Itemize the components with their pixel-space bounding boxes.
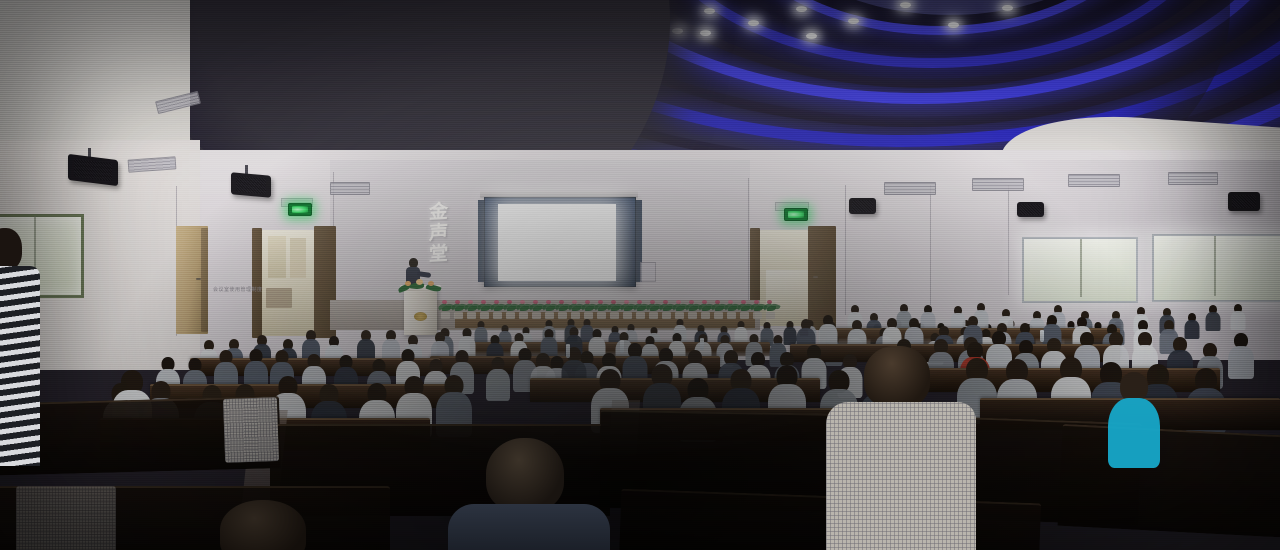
person-teal-polo-right [1108,372,1160,468]
audience-member-far [1205,305,1220,331]
water-bottle-2 [620,340,624,353]
auditorium-photo: 金 声 堂 会议室使用管理制度 [0,0,1280,550]
exit-running-man-icon [292,206,308,213]
foreground-desk-right-3 [1057,424,1280,538]
podium-flower-arrangement [396,277,448,293]
exit-running-man-icon-right [788,211,804,218]
striped-person-torso [0,266,40,466]
audience-member-body [1108,398,1160,468]
wall-seam-6 [1008,185,1009,295]
wall-calligraphy: 金 声 堂 [419,202,459,264]
audience-member-near [1228,333,1254,379]
audience-member-far [1184,313,1199,339]
person-foreground-bottom-left [210,500,320,550]
wall-seam-5 [930,185,931,305]
water-bottle-1 [566,344,570,358]
hvac-vent-right-2 [972,178,1024,191]
hvac-vent-right-3 [1068,174,1120,187]
person-foreground-right-mesh [826,346,976,550]
audience-member-near [486,357,510,401]
calligraphy-char-3: 堂 [429,244,449,265]
door-handle-right[interactable] [813,276,818,278]
audience-member-body [1230,311,1245,330]
audience-member-far [1230,304,1245,330]
speaker-right-far [1017,202,1044,217]
door-handle-left[interactable] [196,278,201,280]
wall-control-panel[interactable] [640,262,656,282]
speaker-right-near [849,198,876,214]
water-bottle-4 [1040,330,1044,342]
podium-bloom-2 [416,279,423,285]
water-bottle-3 [700,338,704,350]
fg-left-head [220,500,306,550]
mesh-chair-back-left [223,397,279,463]
hvac-vent-right-4 [1168,172,1218,185]
window-right-2 [1152,234,1280,302]
fg-center-shoulders [448,504,610,550]
fg-right-torso [826,402,976,550]
left-wall-plaque: 会议室使用管理制度 [213,286,263,293]
projection-screen-frame [484,197,636,287]
lobby-panel-left [268,236,286,278]
projection-screen-surface [498,204,616,281]
wall-seam-4 [845,185,846,315]
person-striped-shirt-left [0,228,48,468]
exit-sign-right [784,208,808,221]
calligraphy-char-1: 金 [429,202,449,223]
hvac-vent-center [330,182,370,195]
mesh-chair-back-bottom [16,486,116,550]
podium-bloom-3 [428,281,434,286]
fg-right-head [864,346,930,408]
exit-sign-left [288,203,312,216]
audience-member-body [1228,346,1254,379]
speaker-left-near [231,172,271,197]
person-foreground-center [462,438,594,550]
window-right-2-mullion [1214,236,1216,296]
audience-member-body [486,369,510,401]
audience-member-body [1205,312,1220,331]
audience-seating-area: 会议 议程 报告 [0,300,1280,550]
lobby-panel-right [290,238,306,278]
window-right-1-mullion [1080,239,1082,297]
fg-center-head [486,438,564,512]
calligraphy-char-2: 声 [429,223,449,244]
speaker-right-corner [1228,192,1260,211]
striped-person-head [0,228,22,270]
hvac-vent-right-1 [884,182,936,195]
podium-bloom-1 [405,281,411,286]
